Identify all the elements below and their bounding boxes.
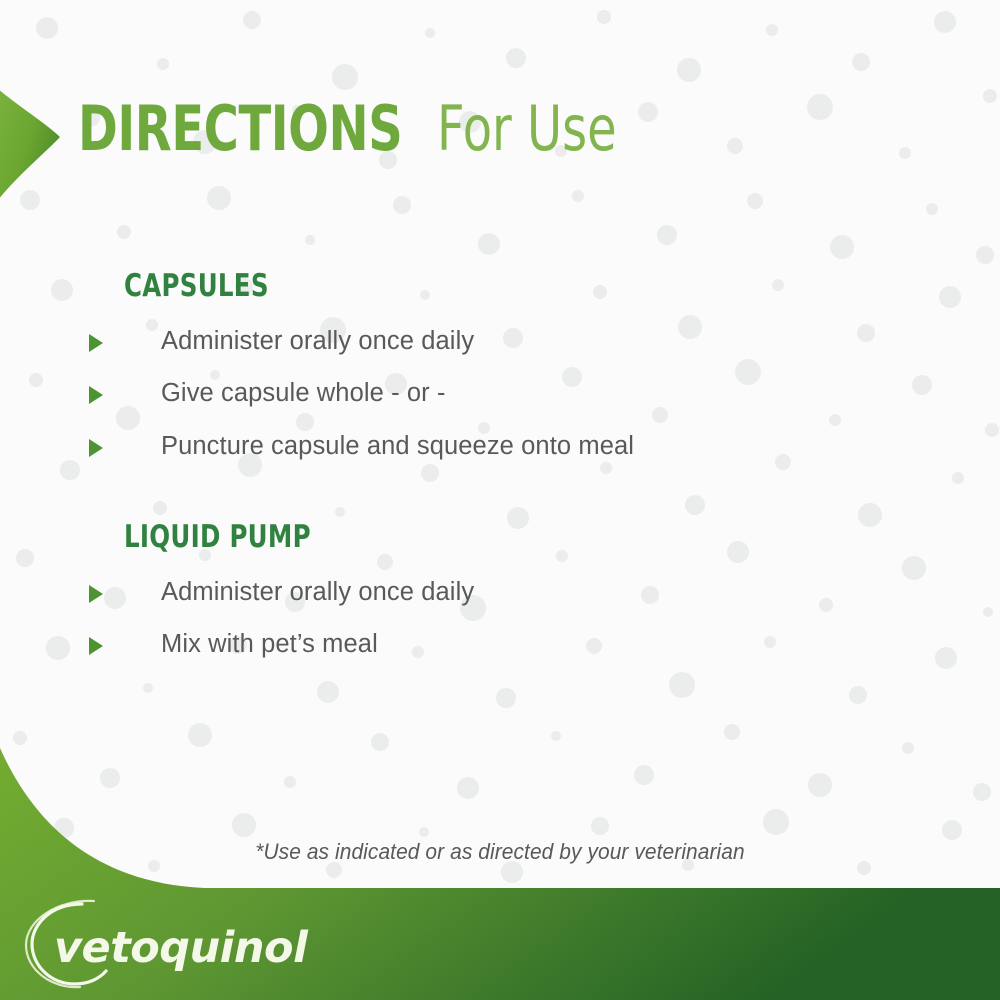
page-title: DIRECTIONSFor Use [78, 92, 646, 165]
section-liquid-pump: LIQUID PUMP Administer orally once daily… [124, 519, 474, 660]
footnote-text: *Use as indicated or as directed by your… [25, 839, 975, 865]
list-item: Give capsule whole - or - [124, 379, 634, 408]
bullet-triangle-icon [89, 585, 103, 603]
section-heading-capsules: CAPSULES [124, 268, 269, 304]
bullet-list-capsules: Administer orally once daily Give capsul… [124, 327, 634, 461]
vetoquinol-logo: vetoquinol [22, 892, 322, 992]
section-capsules: CAPSULES Administer orally once daily Gi… [124, 268, 634, 461]
bullet-triangle-icon [89, 637, 103, 655]
list-item: Puncture capsule and squeeze onto meal [124, 432, 634, 461]
directions-for-use-panel: DIRECTIONSFor Use CAPSULES Administer or… [0, 0, 1000, 1000]
list-item-label: Administer orally once daily [161, 578, 474, 606]
page-title-bold: DIRECTIONS [78, 92, 402, 165]
list-item-label: Give capsule whole - or - [161, 379, 446, 407]
list-item-label: Mix with pet’s meal [161, 630, 378, 658]
bullet-triangle-icon [89, 386, 103, 404]
page-title-light: For Use [437, 92, 617, 165]
list-item-label: Administer orally once daily [161, 327, 474, 355]
bullet-triangle-icon [89, 334, 103, 352]
list-item: Mix with pet’s meal [124, 630, 474, 659]
section-heading-liquid-pump: LIQUID PUMP [124, 519, 311, 555]
bullet-triangle-icon [89, 439, 103, 457]
bullet-list-liquid-pump: Administer orally once daily Mix with pe… [124, 578, 474, 660]
list-item-label: Puncture capsule and squeeze onto meal [161, 432, 634, 460]
vetoquinol-wordmark: vetoquinol [54, 923, 309, 973]
list-item: Administer orally once daily [124, 327, 634, 356]
list-item: Administer orally once daily [124, 578, 474, 607]
